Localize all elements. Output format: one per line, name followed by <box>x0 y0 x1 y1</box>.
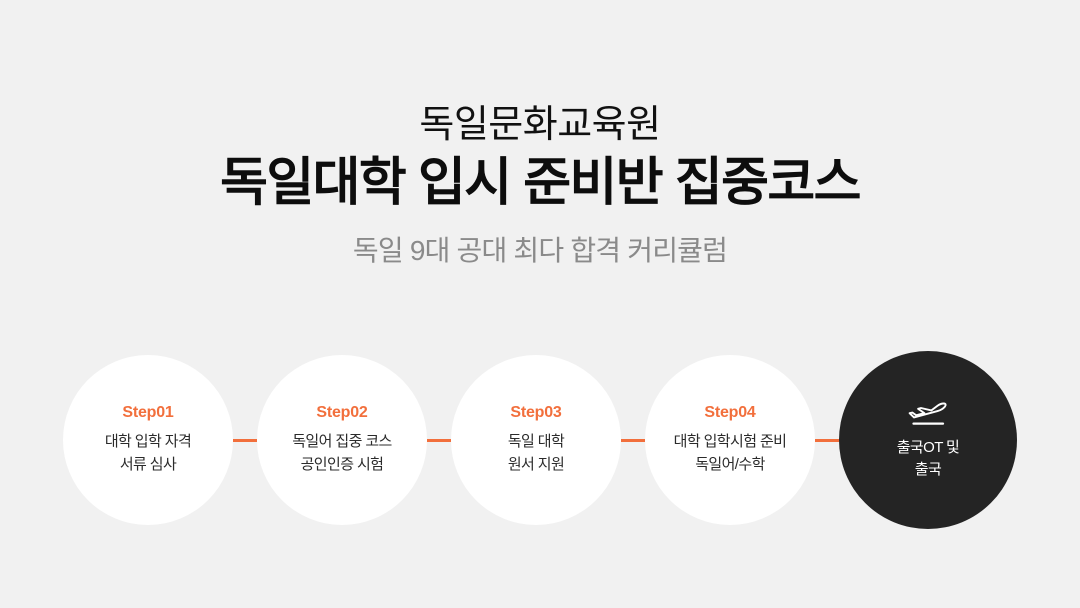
header-block: 독일문화교육원 독일대학 입시 준비반 집중코스 독일 9대 공대 최다 합격 … <box>0 104 1080 267</box>
step-desc-line2-01: 서류 심사 <box>120 454 176 477</box>
step-desc-line2-04: 독일어/수학 <box>695 454 765 477</box>
step-connector-3 <box>621 439 645 442</box>
airplane-takeoff-icon <box>905 399 951 429</box>
page-title: 독일대학 입시 준비반 집중코스 <box>0 155 1080 212</box>
step-label-03: Step03 <box>510 404 561 422</box>
step-desc-line2-03: 원서 지원 <box>508 454 564 477</box>
step-label-02: Step02 <box>316 404 367 422</box>
step-desc-line1-01: 대학 입학 자격 <box>105 431 191 454</box>
step-circle-04[interactable]: Step04 대학 입학시험 준비 독일어/수학 <box>645 355 815 525</box>
step-connector-1 <box>233 439 257 442</box>
page-subtitle: 독일 9대 공대 최다 합격 커리큘럼 <box>0 234 1080 268</box>
step-flow: Step01 대학 입학 자격 서류 심사 Step02 독일어 집중 코스 공… <box>0 349 1080 531</box>
step-label-04: Step04 <box>704 404 755 422</box>
step-desc-line1-03: 독일 대학 <box>508 431 564 454</box>
step-label-01: Step01 <box>122 404 173 422</box>
step-desc-line1-04: 대학 입학시험 준비 <box>674 431 787 454</box>
step-desc-line2-02: 공인인증 시험 <box>301 454 384 477</box>
step-desc-line1-02: 독일어 집중 코스 <box>292 431 392 454</box>
slide-canvas: 독일문화교육원 독일대학 입시 준비반 집중코스 독일 9대 공대 최다 합격 … <box>0 0 1080 608</box>
step-circle-01[interactable]: Step01 대학 입학 자격 서류 심사 <box>63 355 233 525</box>
page-kicker: 독일문화교육원 <box>0 104 1080 147</box>
step-desc-line2-departure: 출국 <box>915 459 941 482</box>
step-connector-2 <box>427 439 451 442</box>
step-circle-departure[interactable]: 출국OT 및 출국 <box>839 351 1017 529</box>
step-circle-02[interactable]: Step02 독일어 집중 코스 공인인증 시험 <box>257 355 427 525</box>
step-desc-line1-departure: 출국OT 및 <box>897 437 960 460</box>
step-connector-4 <box>815 439 839 442</box>
step-circle-03[interactable]: Step03 독일 대학 원서 지원 <box>451 355 621 525</box>
